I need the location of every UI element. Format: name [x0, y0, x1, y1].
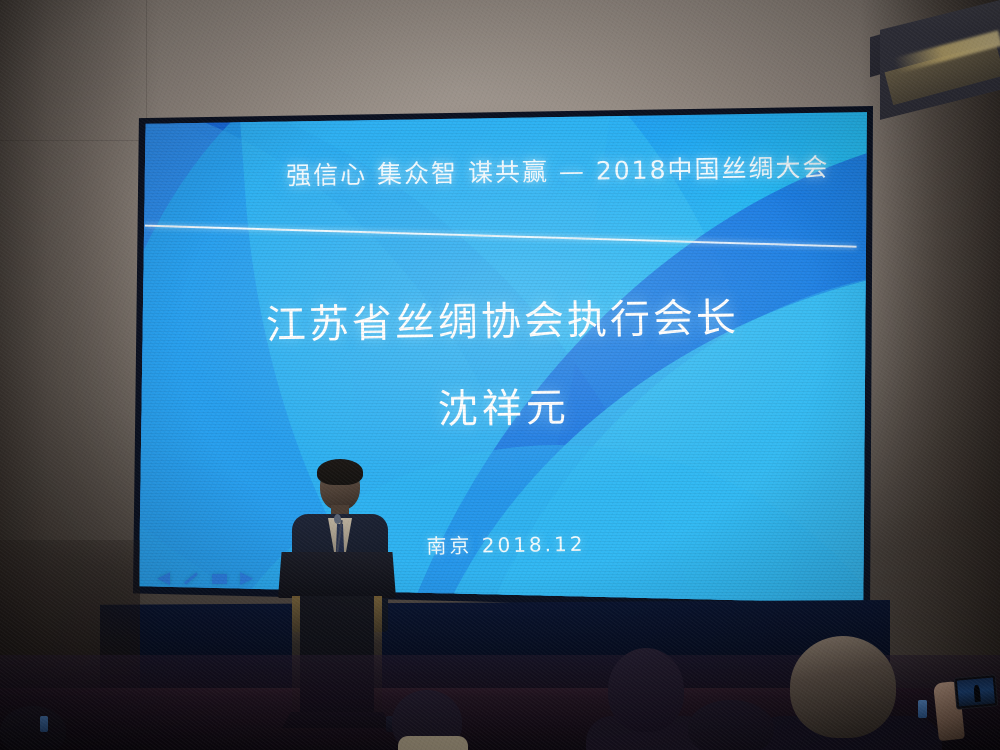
audience-head-5	[0, 706, 66, 750]
podium-top	[278, 552, 396, 598]
water-bottle-right	[918, 700, 927, 718]
smartphone-screen	[957, 677, 995, 706]
led-screen[interactable]: 强信心 集众智 谋共赢 — 2018中国丝绸大会 江苏省丝绸协会执行会长 沈祥元…	[139, 111, 867, 605]
audience-head-4	[790, 636, 896, 738]
microphone-icon	[334, 514, 341, 524]
audience-shoulders-1	[398, 736, 468, 750]
smartphone-preview-figure	[973, 684, 981, 702]
water-bottle-left	[40, 716, 48, 732]
audience-head-3	[688, 700, 774, 750]
smartphone[interactable]	[954, 674, 999, 710]
audience-head-2	[608, 648, 684, 732]
speaker-hair	[317, 459, 363, 485]
photograph-scene: 强信心 集众智 谋共赢 — 2018中国丝绸大会 江苏省丝绸协会执行会长 沈祥元…	[0, 0, 1000, 750]
led-scanlines	[139, 111, 867, 605]
